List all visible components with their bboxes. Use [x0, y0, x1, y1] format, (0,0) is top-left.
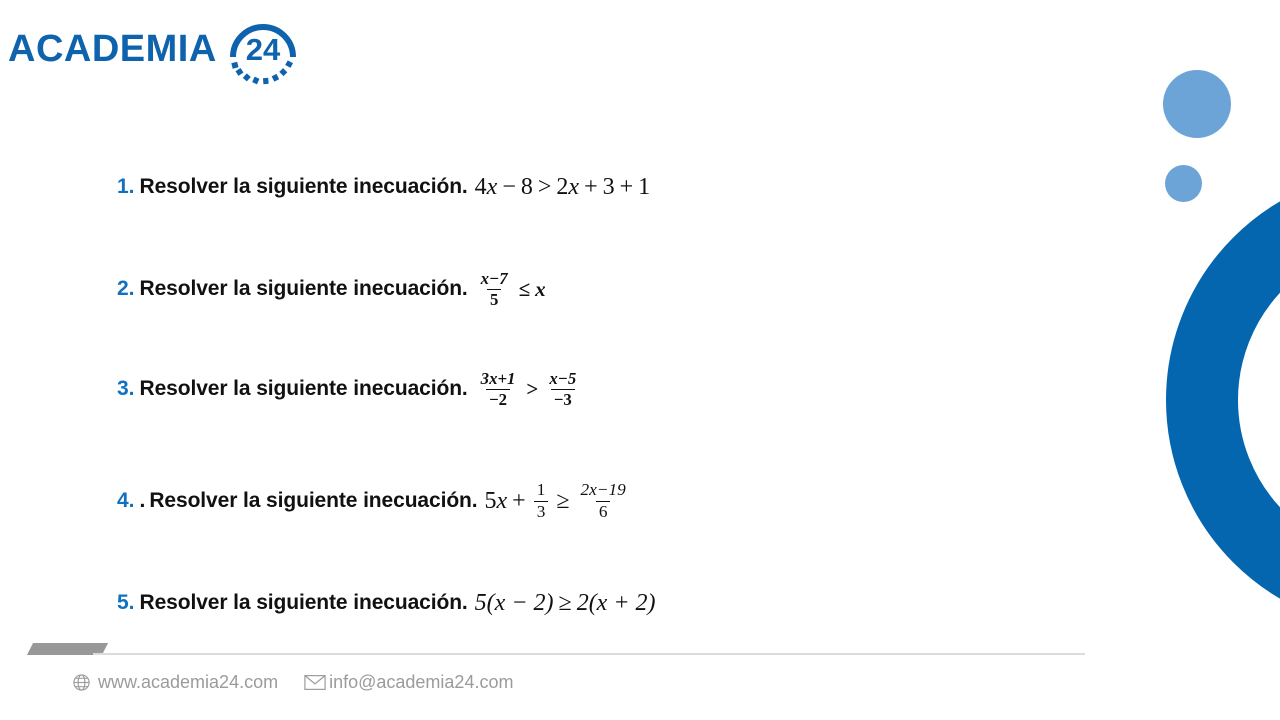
fraction: x−7 5: [478, 270, 511, 308]
fraction-denominator: 5: [487, 289, 501, 309]
envelope-icon: [304, 674, 326, 691]
fraction-numerator: x−7: [478, 270, 511, 289]
logo-badge-24: 24: [225, 11, 301, 87]
footer-rule: [93, 653, 1085, 655]
brand-logo: ACADEMIA 24: [8, 14, 301, 84]
footer-email[interactable]: info@academia24.com: [304, 672, 513, 693]
fraction-numerator: 3x+1: [478, 370, 519, 389]
fraction-denominator: 6: [596, 501, 611, 521]
logo-wordmark: ACADEMIA: [8, 30, 217, 68]
expr-op: +: [512, 489, 526, 513]
expr-rhs-op1: +: [584, 175, 598, 199]
fraction-denominator: −3: [551, 389, 575, 409]
problem-number-1: 1.: [117, 175, 135, 199]
problem-prompt-4: Resolver la siguiente inecuación.: [149, 489, 477, 513]
expr-relation: ≥: [556, 489, 569, 513]
problem-prompt-3: Resolver la siguiente inecuación.: [140, 377, 468, 401]
fraction-right: 2x−19 6: [578, 481, 629, 520]
expr-op: −: [502, 175, 516, 199]
footer-email-label: info@academia24.com: [329, 672, 513, 693]
problem-item-3: 3. Resolver la siguiente inecuación. 3x+…: [117, 360, 582, 418]
fraction-numerator: 1: [534, 481, 549, 500]
expr-var: x: [487, 175, 498, 199]
problem-number-3: 3.: [117, 377, 135, 401]
footer-website-label: www.academia24.com: [98, 672, 278, 693]
slide-canvas: ACADEMIA 24 1. Resol: [0, 0, 1280, 720]
expr-rhs-term1: 3: [603, 175, 615, 199]
expr-rhs-term2: 1: [638, 175, 650, 199]
globe-icon: [72, 673, 91, 692]
footer-divider: [30, 643, 1085, 655]
expr-relation: ≥: [559, 591, 572, 615]
fraction-denominator: −2: [486, 389, 510, 409]
fraction-numerator: x−5: [546, 370, 579, 389]
problem-item-1: 1. Resolver la siguiente inecuación. 4x …: [117, 158, 650, 216]
circle-24-icon: 24: [225, 11, 301, 87]
problem-prompt-2: Resolver la siguiente inecuación.: [140, 277, 468, 301]
decorative-circle-large: [1163, 70, 1231, 138]
problem-extra-marker-4: .: [140, 489, 146, 513]
problem-expression-3: 3x+1 −2 > x−5 −3: [475, 370, 583, 408]
decorative-circle-small: [1165, 165, 1202, 202]
footer-contact: www.academia24.com info@academia24.com: [72, 672, 513, 693]
problem-prompt-1: Resolver la siguiente inecuación.: [140, 175, 468, 199]
fraction-numerator: 2x−19: [578, 481, 629, 500]
fraction-left: 1 3: [534, 481, 549, 520]
footer-website[interactable]: www.academia24.com: [72, 672, 278, 693]
expr-var: x: [497, 489, 508, 513]
expr-rhs-op2: +: [620, 175, 634, 199]
decorative-ring: [1166, 170, 1280, 630]
expr-rhs-var: x: [568, 175, 579, 199]
problem-number-4: 4.: [117, 489, 135, 513]
problem-item-5: 5. Resolver la siguiente inecuación. 5(x…: [117, 574, 656, 632]
expr-rhs: x: [535, 279, 546, 300]
problem-expression-5: 5(x − 2) ≥ 2(x + 2): [475, 591, 656, 615]
expr-relation: >: [538, 175, 552, 199]
problem-item-2: 2. Resolver la siguiente inecuación. x−7…: [117, 260, 546, 318]
problem-expression-4: 5x + 1 3 ≥ 2x−19 6: [485, 481, 632, 520]
problem-prompt-5: Resolver la siguiente inecuación.: [140, 591, 468, 615]
problem-expression-2: x−7 5 ≤ x: [475, 270, 546, 308]
expr-rhs-coeff: 2: [556, 175, 568, 199]
expr-lhs: 5(x − 2): [475, 591, 554, 615]
problem-number-5: 5.: [117, 591, 135, 615]
problem-number-2: 2.: [117, 277, 135, 301]
expr-relation: >: [526, 379, 538, 400]
problem-item-4: 4. . Resolver la siguiente inecuación. 5…: [117, 472, 632, 530]
problem-expression-1: 4x − 8 > 2x + 3 + 1: [475, 175, 651, 199]
expr-const: 8: [521, 175, 533, 199]
expr-rhs: 2(x + 2): [577, 591, 656, 615]
expr-coeff: 5: [485, 489, 497, 513]
expr-relation: ≤: [519, 279, 531, 300]
expr-coeff: 4: [475, 175, 487, 199]
logo-badge-number: 24: [246, 32, 281, 67]
fraction-denominator: 3: [534, 501, 549, 521]
fraction-right: x−5 −3: [546, 370, 579, 408]
fraction-left: 3x+1 −2: [478, 370, 519, 408]
